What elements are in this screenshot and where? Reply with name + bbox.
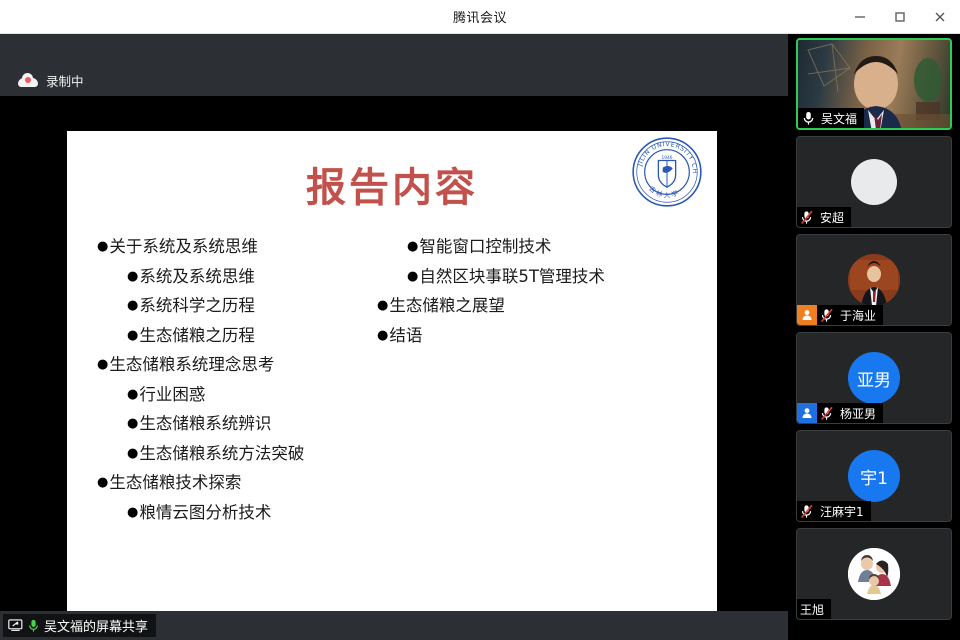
jlu-university-logo: JILIN UNIVERSITY CHINA 1946 吉林大学	[631, 136, 703, 208]
mic-on-icon	[802, 111, 815, 126]
bullet-dot-icon: ●	[97, 475, 108, 491]
participant-tile[interactable]: 于海业	[796, 234, 952, 326]
host-badge	[797, 305, 817, 325]
bullet-dot-icon: ●	[407, 269, 418, 285]
participant-name-bar: 王旭	[797, 599, 831, 619]
screen-share-status: 吴文福的屏幕共享	[3, 614, 156, 637]
slide-bullet-label: 行业困惑	[139, 387, 205, 404]
slide-bullet: ●系统科学之历程	[127, 298, 417, 315]
bullet-dot-icon: ●	[97, 239, 108, 255]
participant-avatar	[851, 159, 897, 205]
bullet-dot-icon: ●	[377, 328, 388, 344]
slide-bullet: ●自然区块事联5T管理技术	[407, 269, 707, 286]
slide-bullet: ●生态储粮系统辨识	[127, 416, 417, 433]
mic-muted-icon	[800, 210, 814, 225]
slide-bullet: ●生态储粮技术探索	[97, 475, 417, 492]
bullet-dot-icon: ●	[127, 269, 138, 285]
participant-avatar: 亚男	[848, 352, 900, 404]
participant-mic-status	[798, 111, 818, 126]
bullet-dot-icon: ●	[407, 239, 418, 255]
participant-name: 吴文福	[818, 110, 864, 127]
participant-name: 汪麻宇1	[817, 503, 871, 520]
cloud-recording-icon	[18, 73, 38, 87]
participant-rail[interactable]: 吴文福安超于海业亚男杨亚男宇1汪麻宇1王旭	[788, 34, 960, 640]
participant-mic-status	[817, 308, 837, 323]
bullet-dot-icon: ●	[127, 387, 138, 403]
slide-bullet: ●系统及系统思维	[127, 269, 417, 286]
slide-bullet: ●智能窗口控制技术	[407, 239, 707, 256]
participant-tile[interactable]: 亚男杨亚男	[796, 332, 952, 424]
slide-bullet-label: 自然区块事联5T管理技术	[419, 269, 605, 286]
participant-tile[interactable]: 王旭	[796, 528, 952, 620]
slide-bullet-label: 生态储粮系统理念思考	[109, 357, 274, 374]
recording-label: 录制中	[46, 71, 84, 90]
participant-avatar	[848, 254, 900, 306]
window-controls	[840, 0, 960, 34]
participant-name: 杨亚男	[837, 405, 883, 422]
participant-tile[interactable]: 安超	[796, 136, 952, 228]
svg-text:1946: 1946	[662, 155, 673, 161]
mic-muted-icon	[820, 308, 834, 323]
participant-name-bar: 于海业	[797, 305, 883, 325]
participant-name-bar: 安超	[797, 207, 851, 227]
bullet-dot-icon: ●	[127, 328, 138, 344]
slide-bullet: ●生态储粮之展望	[377, 298, 707, 315]
participant-name: 王旭	[797, 601, 831, 618]
mic-muted-icon	[820, 406, 834, 421]
participant-avatar: 宇1	[848, 450, 900, 502]
slide-title: 报告内容	[67, 155, 717, 213]
avatar-initials: 亚男	[857, 366, 891, 391]
presentation-slide: 报告内容 JILIN UNIVERSITY CHINA 1946 吉林大学	[67, 131, 717, 611]
participant-mic-status	[797, 210, 817, 225]
slide-bullet: ●生态储粮之历程	[127, 328, 417, 345]
slide-bullet-label: 生态储粮系统辨识	[139, 416, 271, 433]
slide-left-column: ●关于系统及系统思维●系统及系统思维●系统科学之历程●生态储粮之历程●生态储粮系…	[97, 239, 417, 534]
rail-scrollbar[interactable]	[954, 34, 960, 640]
participant-name: 于海业	[837, 307, 883, 324]
slide-bullet-label: 生态储粮之历程	[139, 328, 255, 345]
bullet-dot-icon: ●	[127, 416, 138, 432]
window-title: 腾讯会议	[453, 7, 507, 26]
participant-name-bar: 吴文福	[798, 108, 864, 128]
tencent-meeting-window: 腾讯会议 录制中 报告内容	[0, 0, 960, 640]
bullet-dot-icon: ●	[127, 298, 138, 314]
mic-icon	[28, 619, 39, 633]
slide-bullet: ●行业困惑	[127, 387, 417, 404]
participant-tile[interactable]: 吴文福	[796, 38, 952, 130]
slide-bullet-label: 结语	[389, 328, 422, 345]
slide-bullet-label: 生态储粮技术探索	[109, 475, 241, 492]
slide-bullet-label: 关于系统及系统思维	[109, 239, 258, 256]
slide-bullet-label: 智能窗口控制技术	[419, 239, 551, 256]
slide-bullet: ●结语	[377, 328, 707, 345]
slide-bullet: ●生态储粮系统方法突破	[127, 446, 417, 463]
stage-top-toolbar: 录制中	[0, 34, 788, 96]
svg-text:吉林大学: 吉林大学	[647, 185, 681, 200]
slide-right-column: ●智能窗口控制技术●自然区块事联5T管理技术●生态储粮之展望●结语	[377, 239, 707, 357]
slide-bullet-label: 系统科学之历程	[139, 298, 255, 315]
participant-tile[interactable]: 宇1汪麻宇1	[796, 430, 952, 522]
bullet-dot-icon: ●	[127, 446, 138, 462]
title-bar: 腾讯会议	[0, 0, 960, 34]
participant-name: 安超	[817, 209, 851, 226]
mic-muted-icon	[800, 504, 814, 519]
screen-share-icon	[8, 619, 23, 632]
avatar-initials: 宇1	[860, 464, 888, 489]
participant-mic-status	[797, 504, 817, 519]
minimize-button[interactable]	[840, 0, 880, 34]
slide-bullet: ●生态储粮系统理念思考	[97, 357, 417, 374]
participant-name-bar: 汪麻宇1	[797, 501, 871, 521]
screen-share-label: 吴文福的屏幕共享	[44, 616, 148, 635]
person-icon	[801, 407, 813, 419]
maximize-button[interactable]	[880, 0, 920, 34]
slide-bullet-label: 生态储粮之展望	[389, 298, 505, 315]
bullet-dot-icon: ●	[127, 505, 138, 521]
participant-avatar	[848, 548, 900, 600]
recording-indicator: 录制中	[18, 71, 84, 90]
slide-bullet: ●粮情云图分析技术	[127, 505, 417, 522]
participant-name-bar: 杨亚男	[797, 403, 883, 423]
shared-screen-stage: 录制中 报告内容 JILIN UNIVERSITY CHINA 1946	[0, 34, 788, 640]
bullet-dot-icon: ●	[97, 357, 108, 373]
slide-bullet-label: 生态储粮系统方法突破	[139, 446, 304, 463]
participant-badge	[797, 403, 817, 423]
participant-mic-status	[817, 406, 837, 421]
slide-bullet-label: 粮情云图分析技术	[139, 505, 271, 522]
slide-bullet: ●关于系统及系统思维	[97, 239, 417, 256]
person-icon	[801, 309, 813, 321]
close-button[interactable]	[920, 0, 960, 34]
stage-bottom-bar: 吴文福的屏幕共享	[0, 611, 788, 640]
bullet-dot-icon: ●	[377, 298, 388, 314]
slide-bullet-label: 系统及系统思维	[139, 269, 255, 286]
